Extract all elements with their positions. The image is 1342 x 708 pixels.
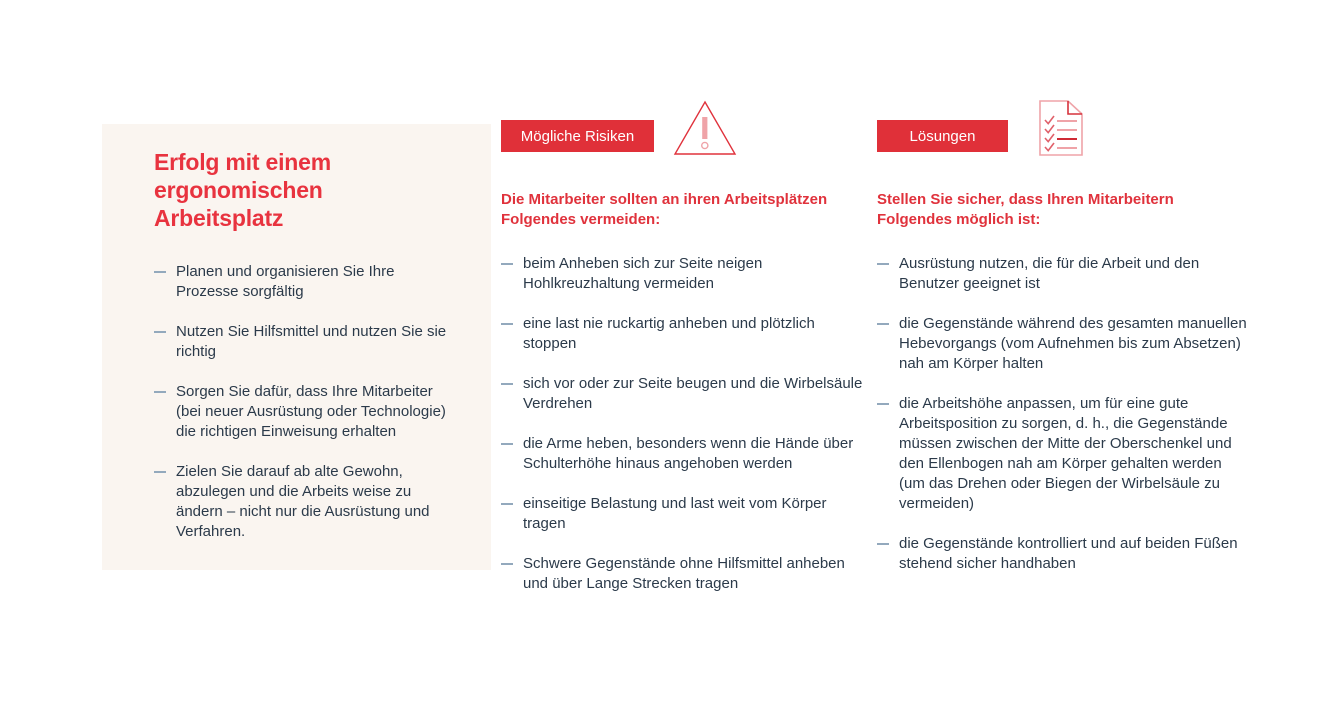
- list-item-text: Zielen Sie darauf ab alte Gewohn, abzule…: [176, 463, 430, 540]
- success-tips-list: Planen und organisieren Sie Ihre Prozess…: [154, 262, 457, 542]
- dash-bullet-icon: [877, 323, 889, 325]
- list-item: die Gegenstände kontrolliert und auf bei…: [877, 534, 1247, 574]
- list-item: Schwere Gegenstände ohne Hilfsmittel anh…: [501, 554, 871, 594]
- risks-subheading: Die Mitarbeiter sollten an ihren Arbeits…: [501, 190, 871, 230]
- dash-bullet-icon: [877, 543, 889, 545]
- solutions-list: Ausrüstung nutzen, die für die Arbeit un…: [877, 254, 1247, 574]
- dash-bullet-icon: [154, 391, 166, 393]
- list-item: beim Anheben sich zur Seite neigen Hohlk…: [501, 254, 871, 294]
- list-item: Zielen Sie darauf ab alte Gewohn, abzule…: [154, 462, 457, 542]
- list-item: eine last nie ruckartig anheben und plöt…: [501, 314, 871, 354]
- dash-bullet-icon: [877, 263, 889, 265]
- list-item-text: die Arme heben, besonders wenn die Hände…: [523, 435, 853, 472]
- dash-bullet-icon: [501, 563, 513, 565]
- list-item-text: Schwere Gegenstände ohne Hilfsmittel anh…: [523, 555, 845, 592]
- solutions-header: Lösungen: [877, 120, 1247, 182]
- page-title-line-1: Erfolg mit einem: [154, 148, 457, 176]
- dash-bullet-icon: [501, 323, 513, 325]
- list-item-text: sich vor oder zur Seite beugen und die W…: [523, 375, 862, 412]
- warning-triangle-icon: [672, 97, 738, 164]
- list-item: sich vor oder zur Seite beugen und die W…: [501, 374, 871, 414]
- list-item: Nutzen Sie Hilfsmittel und nutzen Sie si…: [154, 322, 457, 362]
- success-panel-inner: Erfolg mit einem ergonomischen Arbeitspl…: [102, 124, 491, 542]
- success-panel: Erfolg mit einem ergonomischen Arbeitspl…: [102, 124, 491, 570]
- list-item: Sorgen Sie dafür, dass Ihre Mitarbeiter …: [154, 382, 457, 442]
- dash-bullet-icon: [154, 471, 166, 473]
- list-item: die Arme heben, besonders wenn die Hände…: [501, 434, 871, 474]
- list-item-text: Sorgen Sie dafür, dass Ihre Mitarbeiter …: [176, 383, 446, 440]
- list-item-text: die Gegenstände während des gesamten man…: [899, 315, 1247, 372]
- list-item: einseitige Belastung und last weit vom K…: [501, 494, 871, 534]
- dash-bullet-icon: [154, 271, 166, 273]
- solutions-column: Lösungen Stellen Sie sicher, dass Ihren …: [877, 120, 1247, 594]
- risks-list: beim Anheben sich zur Seite neigen Hohlk…: [501, 254, 871, 594]
- list-item-text: die Arbeitshöhe anpassen, um für eine gu…: [899, 395, 1232, 512]
- dash-bullet-icon: [501, 383, 513, 385]
- list-item-text: die Gegenstände kontrolliert und auf bei…: [899, 535, 1238, 572]
- dash-bullet-icon: [154, 331, 166, 333]
- dash-bullet-icon: [501, 443, 513, 445]
- risks-badge: Mögliche Risiken: [501, 120, 654, 152]
- list-item-text: beim Anheben sich zur Seite neigen Hohlk…: [523, 255, 762, 292]
- list-item-text: Planen und organisieren Sie Ihre Prozess…: [176, 263, 394, 300]
- list-item: die Arbeitshöhe anpassen, um für eine gu…: [877, 394, 1247, 514]
- page-title-line-2: ergonomischen Arbeitsplatz: [154, 176, 457, 232]
- solutions-subheading: Stellen Sie sicher, dass Ihren Mitarbeit…: [877, 190, 1247, 230]
- risks-header: Mögliche Risiken: [501, 120, 871, 182]
- page-title: Erfolg mit einem ergonomischen Arbeitspl…: [154, 148, 457, 232]
- dash-bullet-icon: [501, 503, 513, 505]
- list-item-text: einseitige Belastung und last weit vom K…: [523, 495, 827, 532]
- list-item: Ausrüstung nutzen, die für die Arbeit un…: [877, 254, 1247, 294]
- list-item-text: Nutzen Sie Hilfsmittel und nutzen Sie si…: [176, 323, 446, 360]
- risks-column: Mögliche Risiken Die Mitarbeiter sollten…: [501, 120, 871, 614]
- list-item: Planen und organisieren Sie Ihre Prozess…: [154, 262, 457, 302]
- list-item-text: eine last nie ruckartig anheben und plöt…: [523, 315, 815, 352]
- checklist-document-icon: [1036, 98, 1086, 163]
- dash-bullet-icon: [501, 263, 513, 265]
- dash-bullet-icon: [877, 403, 889, 405]
- list-item: die Gegenstände während des gesamten man…: [877, 314, 1247, 374]
- solutions-badge: Lösungen: [877, 120, 1008, 152]
- list-item-text: Ausrüstung nutzen, die für die Arbeit un…: [899, 255, 1199, 292]
